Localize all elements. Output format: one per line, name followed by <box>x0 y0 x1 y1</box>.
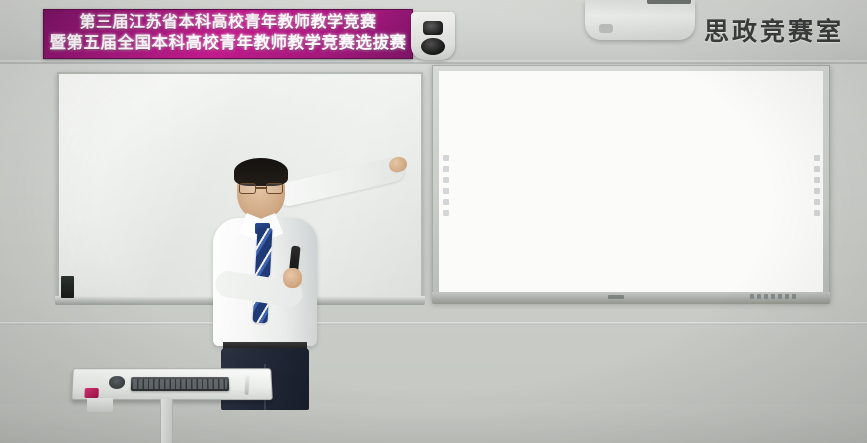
presenter-right-arm <box>275 156 407 209</box>
smart-display-screen[interactable]: 西方人权外交 伊拉克战争 <box>439 71 823 293</box>
glasses-bridge <box>256 187 266 189</box>
presenter-glasses-icon <box>239 183 283 194</box>
podium-pen[interactable] <box>244 375 249 395</box>
bezel-power-icon[interactable] <box>750 294 754 299</box>
bezel-volume-up-icon[interactable] <box>778 294 782 299</box>
podium <box>72 368 272 443</box>
left-tool-icon-2[interactable] <box>443 166 449 172</box>
left-tool-icon-1[interactable] <box>443 155 449 161</box>
podium-red-item <box>84 388 98 398</box>
right-tool-icon-5[interactable] <box>814 199 820 205</box>
camera-lens-top <box>423 21 443 35</box>
wall-seam-top <box>0 62 867 64</box>
banner-line-1: 第三届江苏省本科高校青年教师教学竞赛 <box>79 15 376 32</box>
banner-line-2: 暨第五届全国本科高校青年教师教学竞赛选拔赛 <box>50 35 407 52</box>
bezel-source-icon[interactable] <box>757 294 761 299</box>
presenter-left-hand <box>283 268 302 288</box>
podium-stem <box>160 399 173 443</box>
right-tool-icon-3[interactable] <box>814 177 820 183</box>
screen-right-toolbar[interactable] <box>811 115 822 255</box>
whiteboard-eraser <box>61 276 74 298</box>
left-tool-icon-4[interactable] <box>443 188 449 194</box>
podium-shelf <box>87 398 113 412</box>
ceiling-projector-icon <box>585 0 695 40</box>
glasses-lens-right <box>266 183 283 194</box>
room-title: 思政竞赛室 <box>704 12 844 48</box>
right-tool-icon-6[interactable] <box>814 210 820 216</box>
ceiling-camera-icon <box>411 12 455 60</box>
keyboard-keys <box>133 379 227 389</box>
camera-lens-bottom <box>421 38 445 55</box>
right-tool-icon-2[interactable] <box>814 166 820 172</box>
bezel-volume-down-icon[interactable] <box>771 294 775 299</box>
projector-mount <box>647 0 691 4</box>
screen-left-toolbar[interactable] <box>440 115 451 255</box>
competition-banner: 第三届江苏省本科高校青年教师教学竞赛 暨第五届全国本科高校青年教师教学竞赛选拔赛 <box>43 9 413 59</box>
display-brand-logo <box>608 295 624 299</box>
podium-keyboard[interactable] <box>131 377 229 391</box>
bezel-home-icon[interactable] <box>785 294 789 299</box>
classroom-scene: 第三届江苏省本科高校青年教师教学竞赛 暨第五届全国本科高校青年教师教学竞赛选拔赛… <box>0 0 867 443</box>
left-tool-icon-5[interactable] <box>443 199 449 205</box>
wall-seam-lower <box>0 322 867 325</box>
right-tool-icon-1[interactable] <box>814 155 820 161</box>
podium-desktop <box>71 368 273 400</box>
glasses-lens-left <box>239 183 256 194</box>
presenter-hair <box>234 158 288 186</box>
bezel-back-icon[interactable] <box>792 294 796 299</box>
projector-lens <box>599 24 613 33</box>
left-tool-icon-3[interactable] <box>443 177 449 183</box>
display-bezel-controls[interactable] <box>750 294 796 299</box>
bezel-menu-icon[interactable] <box>764 294 768 299</box>
left-tool-icon-6[interactable] <box>443 210 449 216</box>
podium-mouse[interactable] <box>109 376 125 389</box>
right-tool-icon-4[interactable] <box>814 188 820 194</box>
